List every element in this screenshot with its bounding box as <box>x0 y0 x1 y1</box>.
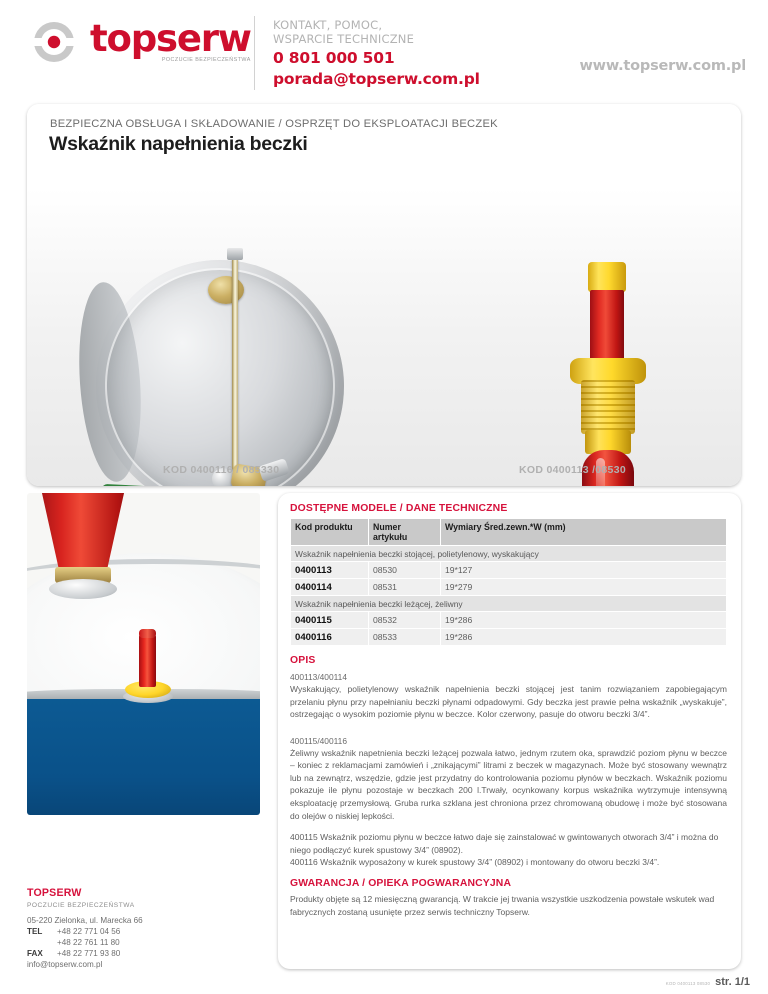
footer-address: 05-220 Zielonka, ul. Marecka 66 <box>27 915 267 926</box>
footer-fax-row: FAX +48 22 771 93 80 <box>27 948 267 959</box>
table-row: 0400116 08533 19*286 <box>291 629 727 646</box>
group-label: Wskaźnik napełnienia beczki leżącej, żel… <box>291 596 727 612</box>
header-contact: KONTAKT, POMOC, WSPARCIE TECHNICZNE 0 80… <box>254 16 480 90</box>
product-photo-installed-closeup <box>27 493 260 815</box>
description-subheading-1: 400113/400114 <box>290 672 727 682</box>
website-url[interactable]: www.topserw.com.pl <box>579 58 746 74</box>
hero-panel: BEZPIECZNA OBSŁUGA I SKŁADOWANIE / OSPRZ… <box>27 104 741 486</box>
details-panel: DOSTĘPNE MODELE / DANE TECHNICZNE Kod pr… <box>278 493 741 969</box>
table-row: 0400115 08532 19*286 <box>291 612 727 629</box>
description-paragraph-3: 400115 Wskaźnik poziomu płynu w beczce ł… <box>290 831 727 856</box>
group-label: Wskaźnik napełnienia beczki stojącej, po… <box>291 546 727 562</box>
product-photo-drum-gauge <box>72 254 362 486</box>
page-header: topserw POCZUCIE BEZPIECZEŃSTWA KONTAKT,… <box>0 0 768 100</box>
description-paragraph-4: 400116 Wskaźnik wyposażony w kurek spust… <box>290 856 727 869</box>
column-header-code: Kod produktu <box>291 519 369 546</box>
page-title: Wskaźnik napełnienia beczki <box>49 133 308 156</box>
table-group-row: Wskaźnik napełnienia beczki leżącej, żel… <box>291 596 727 612</box>
table-header-row: Kod produktu Numer artykułu Wymiary Śred… <box>291 519 727 546</box>
footer-tel-label: TEL <box>27 926 53 937</box>
cell-code: 0400116 <box>291 629 369 646</box>
cell-code: 0400114 <box>291 579 369 596</box>
document-code: KOD 0400113 08530 <box>666 981 710 986</box>
footer-fax-label: FAX <box>27 948 53 959</box>
table-row: 0400113 08530 19*127 <box>291 562 727 579</box>
contact-email[interactable]: porada@topserw.com.pl <box>273 70 480 90</box>
models-heading: DOSTĘPNE MODELE / DANE TECHNICZNE <box>290 503 727 514</box>
product-photo-popup-indicator <box>552 262 672 486</box>
cell-dimensions: 19*286 <box>441 612 727 629</box>
footer-fax: +48 22 771 93 80 <box>53 948 120 959</box>
cell-article: 08530 <box>369 562 441 579</box>
column-header-article: Numer artykułu <box>369 519 441 546</box>
photo-caption-left: KOD 0400116 / 085330 <box>163 464 279 476</box>
table-row: 0400114 08531 19*279 <box>291 579 727 596</box>
footer-email[interactable]: info@topserw.com.pl <box>27 959 267 970</box>
contact-label-line-2: WSPARCIE TECHNICZNE <box>273 32 480 46</box>
warranty-text: Produkty objęte są 12 miesięczną gwaranc… <box>290 893 727 918</box>
cell-article: 08532 <box>369 612 441 629</box>
specifications-table: Kod produktu Numer artykułu Wymiary Śred… <box>290 518 727 646</box>
footer-tel-1[interactable]: +48 22 771 04 56 <box>53 926 120 937</box>
logo-wordmark-text: topserw <box>90 20 251 57</box>
table-group-row: Wskaźnik napełnienia beczki stojącej, po… <box>291 546 727 562</box>
footer-tel-label-empty <box>27 937 53 948</box>
target-dot-icon <box>28 16 80 68</box>
cell-dimensions: 19*286 <box>441 629 727 646</box>
footer-tel-2[interactable]: +48 22 761 11 80 <box>53 937 120 948</box>
page-meta: KOD 0400113 08530 str. 1/1 <box>666 976 750 988</box>
contact-phone[interactable]: 0 801 000 501 <box>273 49 480 69</box>
page-footer: TOPSERW POCZUCIE BEZPIECZEŃSTWA 05-220 Z… <box>27 886 267 970</box>
cell-dimensions: 19*279 <box>441 579 727 596</box>
description-subheading-2: 400115/400116 <box>290 736 727 746</box>
cell-code: 0400115 <box>291 612 369 629</box>
description-paragraph-1: Wyskakujący, polietylenowy wskaźnik nape… <box>290 683 727 721</box>
page-number: str. 1/1 <box>715 976 750 988</box>
footer-company-name: TOPSERW <box>27 886 267 901</box>
category-breadcrumb: BEZPIECZNA OBSŁUGA I SKŁADOWANIE / OSPRZ… <box>50 118 498 130</box>
footer-tel-row-2: +48 22 761 11 80 <box>27 937 267 948</box>
photo-caption-right: KOD 0400113 /08530 <box>519 464 626 476</box>
cell-article: 08533 <box>369 629 441 646</box>
warranty-heading: GWARANCJA / OPIEKA POGWARANCYJNA <box>290 878 727 889</box>
brand-logo[interactable]: topserw POCZUCIE BEZPIECZEŃSTWA <box>0 16 250 68</box>
description-heading: OPIS <box>290 655 727 666</box>
cell-dimensions: 19*127 <box>441 562 727 579</box>
column-header-dimensions: Wymiary Śred.zewn.*W (mm) <box>441 519 727 546</box>
cell-code: 0400113 <box>291 562 369 579</box>
description-paragraph-2: Żeliwny wskaźnik napetnienia beczki leżą… <box>290 747 727 822</box>
footer-tagline: POCZUCIE BEZPIECZEŃSTWA <box>27 901 267 910</box>
footer-tel-row: TEL +48 22 771 04 56 <box>27 926 267 937</box>
contact-label-line-1: KONTAKT, POMOC, <box>273 18 480 32</box>
cell-article: 08531 <box>369 579 441 596</box>
